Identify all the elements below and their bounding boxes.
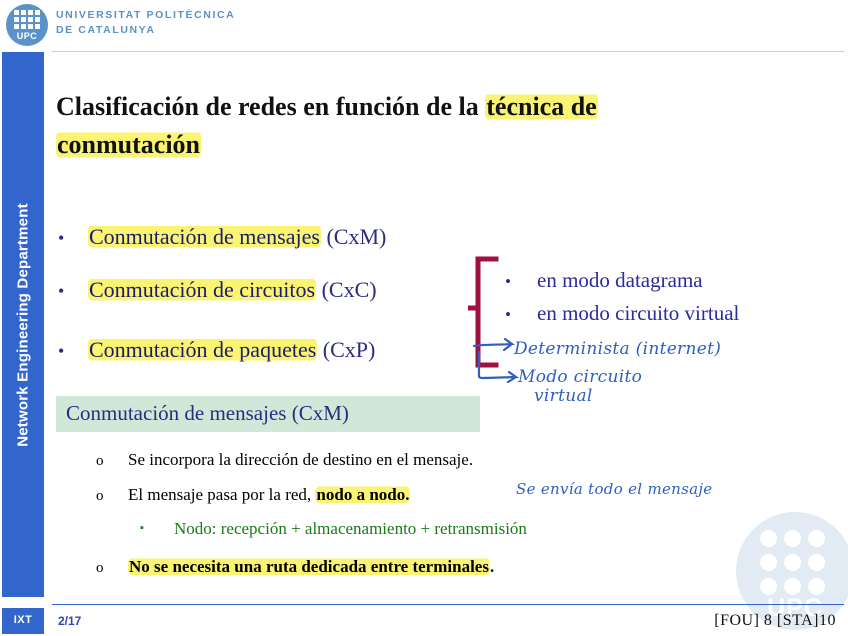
- bullet-marker: ▪: [140, 522, 174, 534]
- watermark-grid-icon: [760, 530, 825, 595]
- bullet-marker: o: [96, 560, 128, 577]
- organization-line-2: DE CATALUNYA: [56, 23, 235, 38]
- slide-canvas: UPC UNIVERSITAT POLITÈCNICA DE CATALUNYA…: [0, 0, 848, 636]
- bullet-label-highlight: Conmutación de mensajes: [88, 224, 321, 249]
- title-plain-text: Clasificación de redes en función de la: [56, 92, 485, 121]
- list-item: ▪Nodo: recepción + almacenamiento + retr…: [140, 519, 527, 539]
- department-sidebar: Network Engineering Department: [2, 52, 44, 597]
- page-number: 2/17: [58, 614, 81, 628]
- handwritten-note: Se envía todo el mensaje: [516, 480, 712, 498]
- logo-grid-icon: [14, 10, 40, 29]
- organization-line-1: UNIVERSITAT POLITÈCNICA: [56, 8, 235, 23]
- header-divider: [52, 51, 844, 52]
- list-item: oEl mensaje pasa por la red, nodo a nodo…: [96, 485, 410, 505]
- bullet-marker: •: [58, 341, 88, 362]
- handwritten-note: virtual: [534, 386, 593, 406]
- bullet-marker: •: [58, 281, 88, 302]
- list-item: •Conmutación de circuitos (CxC): [58, 277, 377, 303]
- item-text: Nodo: recepción + almacenamiento + retra…: [174, 519, 527, 538]
- item-text: El mensaje pasa por la red,: [128, 485, 315, 504]
- item-text: Se incorpora la dirección de destino en …: [128, 450, 473, 469]
- bullet-label-tail: (CxM): [321, 224, 386, 249]
- bullet-label-highlight: Conmutación de paquetes: [88, 337, 317, 362]
- sub-bullet-label: en modo circuito virtual: [537, 301, 739, 325]
- list-item: •Conmutación de paquetes (CxP): [58, 337, 375, 363]
- section-header-label: Conmutación de mensajes (CxM): [66, 401, 349, 426]
- item-text-highlight: No se necesita una ruta dedicada entre t…: [128, 557, 490, 576]
- bullet-label-tail: (CxC): [316, 277, 377, 302]
- list-item: oNo se necesita una ruta dedicada entre …: [96, 557, 494, 577]
- list-item: •en modo circuito virtual: [505, 301, 739, 326]
- logo-label: UPC: [6, 31, 48, 41]
- handwritten-note: Determinista (internet): [514, 339, 721, 359]
- section-header-box: Conmutación de mensajes (CxM): [56, 396, 480, 432]
- item-text-highlight: nodo a nodo.: [315, 485, 410, 504]
- organization-name: UNIVERSITAT POLITÈCNICA DE CATALUNYA: [56, 8, 235, 38]
- list-item: •Conmutación de mensajes (CxM): [58, 224, 386, 250]
- footer-references: [FOU] 8 [STA]10: [714, 612, 836, 630]
- bullet-marker: •: [505, 305, 537, 325]
- handwritten-note-text: Se envía todo el mensaje: [516, 480, 712, 498]
- bullet-marker: o: [96, 453, 128, 470]
- list-item: oSe incorpora la dirección de destino en…: [96, 450, 473, 470]
- list-item: •en modo datagrama: [505, 268, 703, 293]
- title-highlight-2: conmutación: [56, 130, 201, 159]
- item-text: .: [490, 557, 494, 576]
- upc-logo: UPC: [6, 4, 48, 46]
- handwritten-note: Modo circuito: [518, 367, 642, 387]
- footer-course-tag: IXT: [2, 608, 44, 634]
- footer-course-tag-label: IXT: [2, 614, 44, 626]
- bullet-marker: o: [96, 488, 128, 505]
- bullet-label-tail: (CxP): [317, 337, 375, 362]
- bullet-marker: •: [58, 228, 88, 249]
- bullet-marker: •: [505, 272, 537, 292]
- sub-bullet-label: en modo datagrama: [537, 268, 703, 292]
- footer-divider: [52, 604, 844, 605]
- sidebar-label: Network Engineering Department: [15, 203, 32, 447]
- title-highlight-1: técnica de: [485, 92, 597, 121]
- page-title: Clasificación de redes en función de la …: [56, 88, 766, 164]
- bullet-label-highlight: Conmutación de circuitos: [88, 277, 316, 302]
